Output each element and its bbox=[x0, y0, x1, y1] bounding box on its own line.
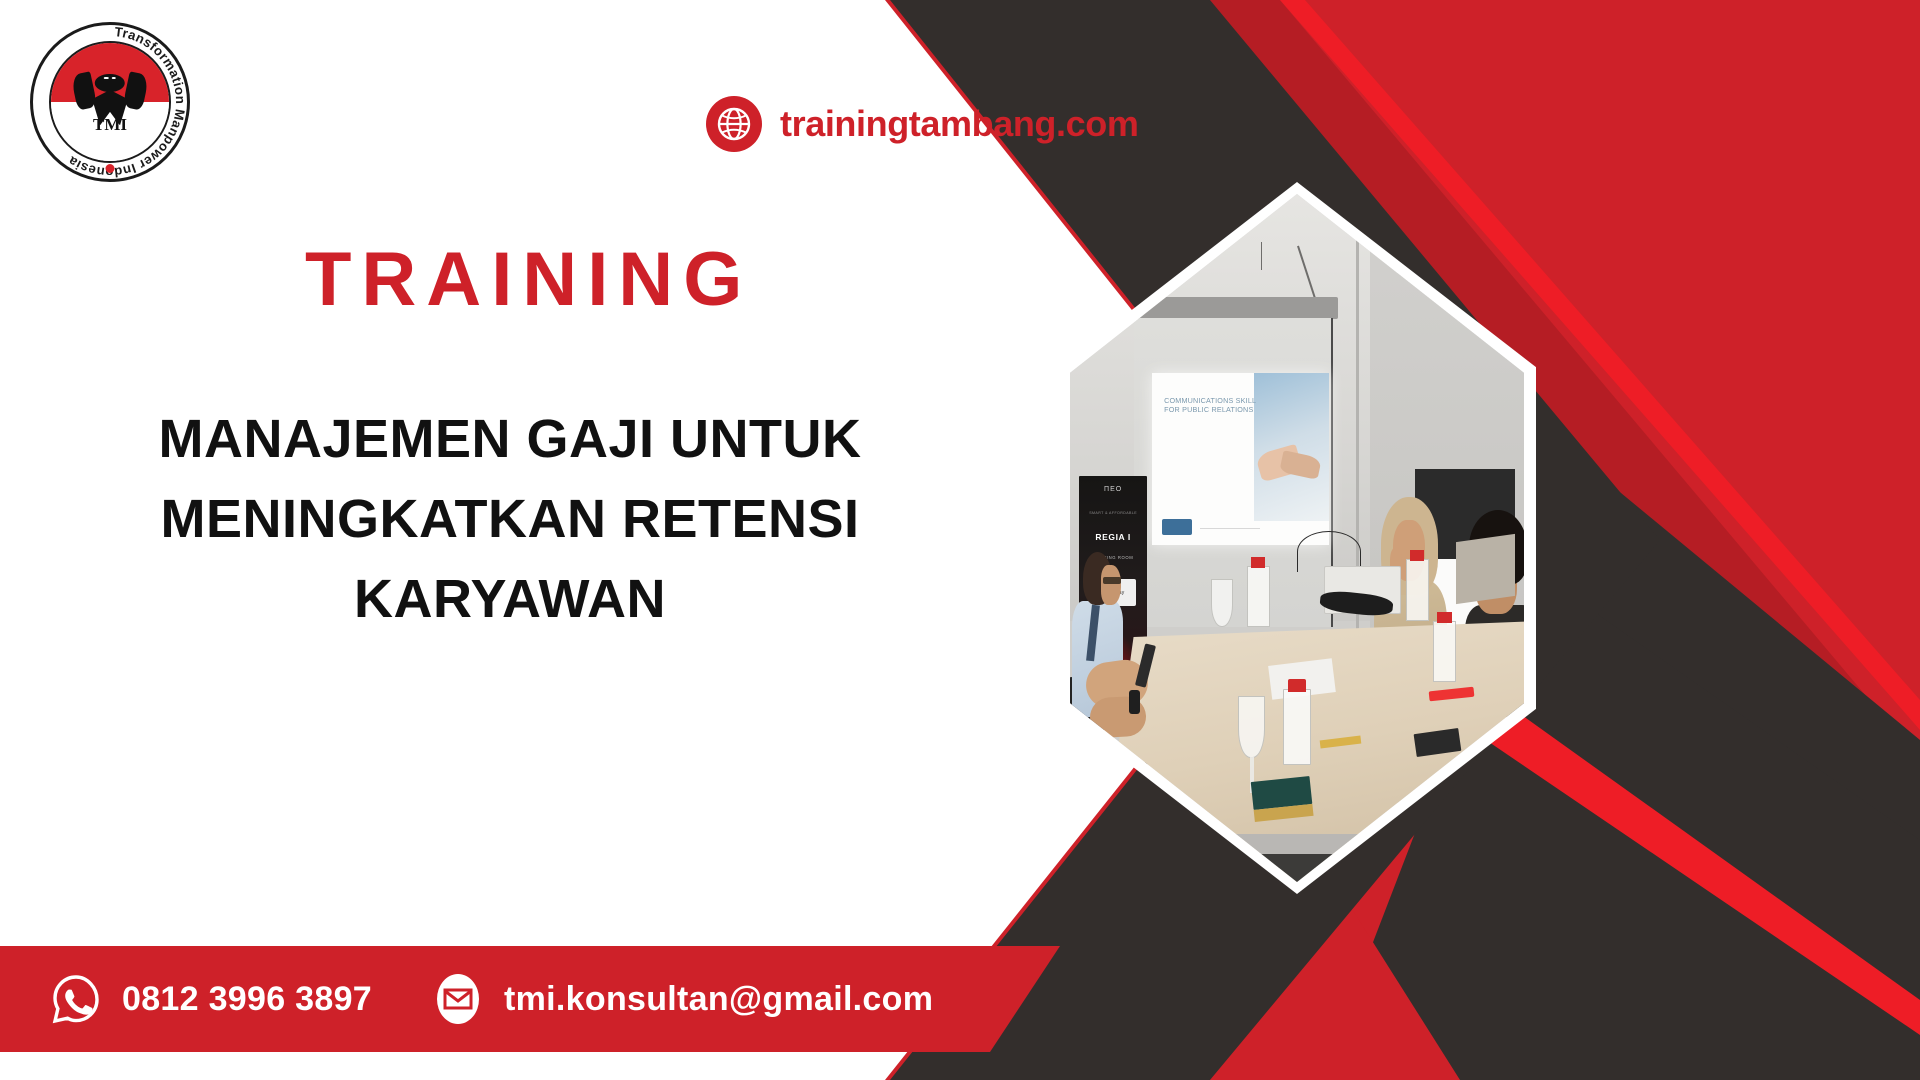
contact-email[interactable]: tmi.konsultan@gmail.com bbox=[432, 973, 933, 1025]
poster-canvas: COMMUNICATIONS SKILL FOR PUBLIC RELATION… bbox=[0, 0, 1920, 1080]
envelope-icon bbox=[432, 973, 484, 1025]
banner-brand-text: ΠΕΟ bbox=[1079, 486, 1147, 493]
globe-icon bbox=[706, 96, 762, 152]
man-left-face bbox=[1101, 565, 1121, 605]
banner-room-name: REGIA I bbox=[1079, 532, 1147, 542]
water-bottle-near bbox=[1283, 689, 1310, 765]
slide-footer-line bbox=[1200, 528, 1260, 530]
water-bottle-right-b bbox=[1433, 621, 1456, 683]
phone-number-text: 0812 3996 3897 bbox=[122, 980, 372, 1019]
slide-title-text: COMMUNICATIONS SKILL FOR PUBLIC RELATION… bbox=[1164, 397, 1267, 415]
whatsapp-icon bbox=[50, 973, 102, 1025]
tmi-logo: TMI Transformation Manpower Indonesia bbox=[30, 22, 190, 182]
eyebrow-heading: TRAINING bbox=[305, 236, 752, 323]
water-goblet-near bbox=[1238, 696, 1265, 758]
page-title-line-3: KARYAWAN bbox=[60, 560, 960, 640]
laptop-on-table bbox=[1456, 534, 1515, 604]
slide-logo-badge bbox=[1162, 519, 1192, 534]
page-title: MANAJEMEN GAJI UNTUK MENINGKATKAN RETENS… bbox=[60, 400, 960, 640]
contact-footer-bar: 0812 3996 3897 tmi.konsultan@gmail.com bbox=[0, 946, 1060, 1052]
logo-red-dot bbox=[106, 164, 115, 173]
water-bottle-right-a bbox=[1406, 559, 1429, 621]
logo-ring-label: Transformation Manpower Indonesia bbox=[30, 22, 190, 182]
man-left-smartwatch bbox=[1129, 690, 1140, 713]
page-title-line-2: MENINGKATKAN RETENSI bbox=[60, 480, 960, 560]
email-address-text: tmi.konsultan@gmail.com bbox=[504, 980, 933, 1019]
website-link[interactable]: trainingtambang.com bbox=[706, 96, 1138, 152]
svg-text:Transformation Manpower Indone: Transformation Manpower Indonesia bbox=[65, 24, 188, 180]
green-notebook bbox=[1250, 776, 1312, 810]
banner-subtitle-text: SMART & AFFORDABLE bbox=[1079, 511, 1147, 515]
screen-hook-right bbox=[1261, 242, 1263, 270]
page-title-line-1: MANAJEMEN GAJI UNTUK bbox=[60, 400, 960, 480]
man-left-glasses bbox=[1103, 577, 1122, 585]
website-url-text: trainingtambang.com bbox=[780, 103, 1138, 145]
contact-phone[interactable]: 0812 3996 3897 bbox=[50, 973, 372, 1025]
water-bottle-far bbox=[1247, 566, 1270, 628]
projected-slide: COMMUNICATIONS SKILL FOR PUBLIC RELATION… bbox=[1152, 373, 1329, 545]
